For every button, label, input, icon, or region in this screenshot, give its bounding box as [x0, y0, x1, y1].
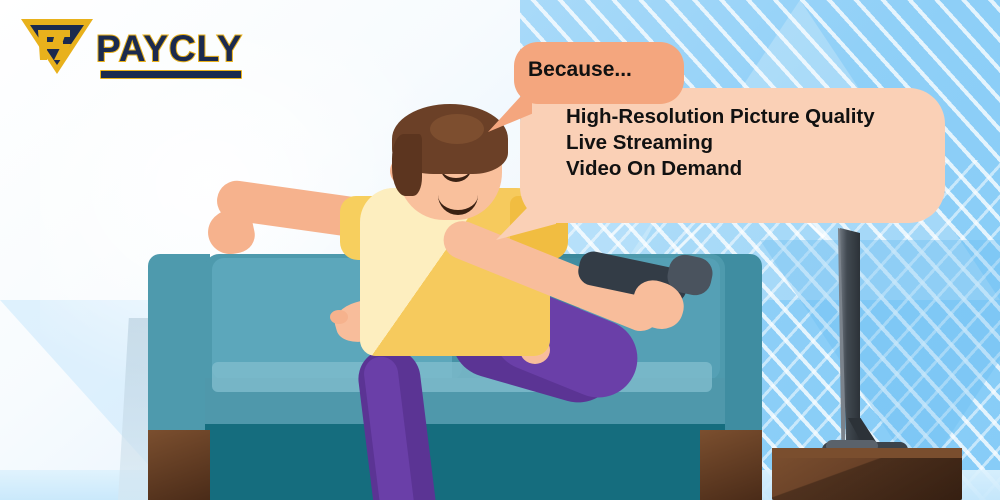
logo-underline: [100, 70, 242, 79]
paycly-logo[interactable]: PAYCLY: [18, 14, 248, 76]
man-toe: [330, 310, 348, 324]
man-hand-left: [204, 206, 258, 259]
feature-line-1: High-Resolution Picture Quality: [566, 104, 946, 130]
banner-canvas: High-Resolution Picture Quality Live Str…: [0, 0, 1000, 500]
tv-stand-shading: [772, 458, 962, 500]
features-bubble-text: High-Resolution Picture Quality Live Str…: [566, 104, 946, 182]
triangle-monogram-icon: [18, 14, 96, 76]
because-bubble-text: Because...: [528, 58, 632, 82]
feature-line-2: Live Streaming: [566, 130, 946, 156]
man-hair-swirl: [430, 114, 484, 144]
man-hair-sideburn: [392, 134, 422, 196]
couch-leg-right: [700, 430, 762, 500]
tv-stand-top: [772, 448, 962, 458]
feature-line-3: Video On Demand: [566, 156, 946, 182]
logo-wordmark: PAYCLY: [96, 28, 243, 70]
